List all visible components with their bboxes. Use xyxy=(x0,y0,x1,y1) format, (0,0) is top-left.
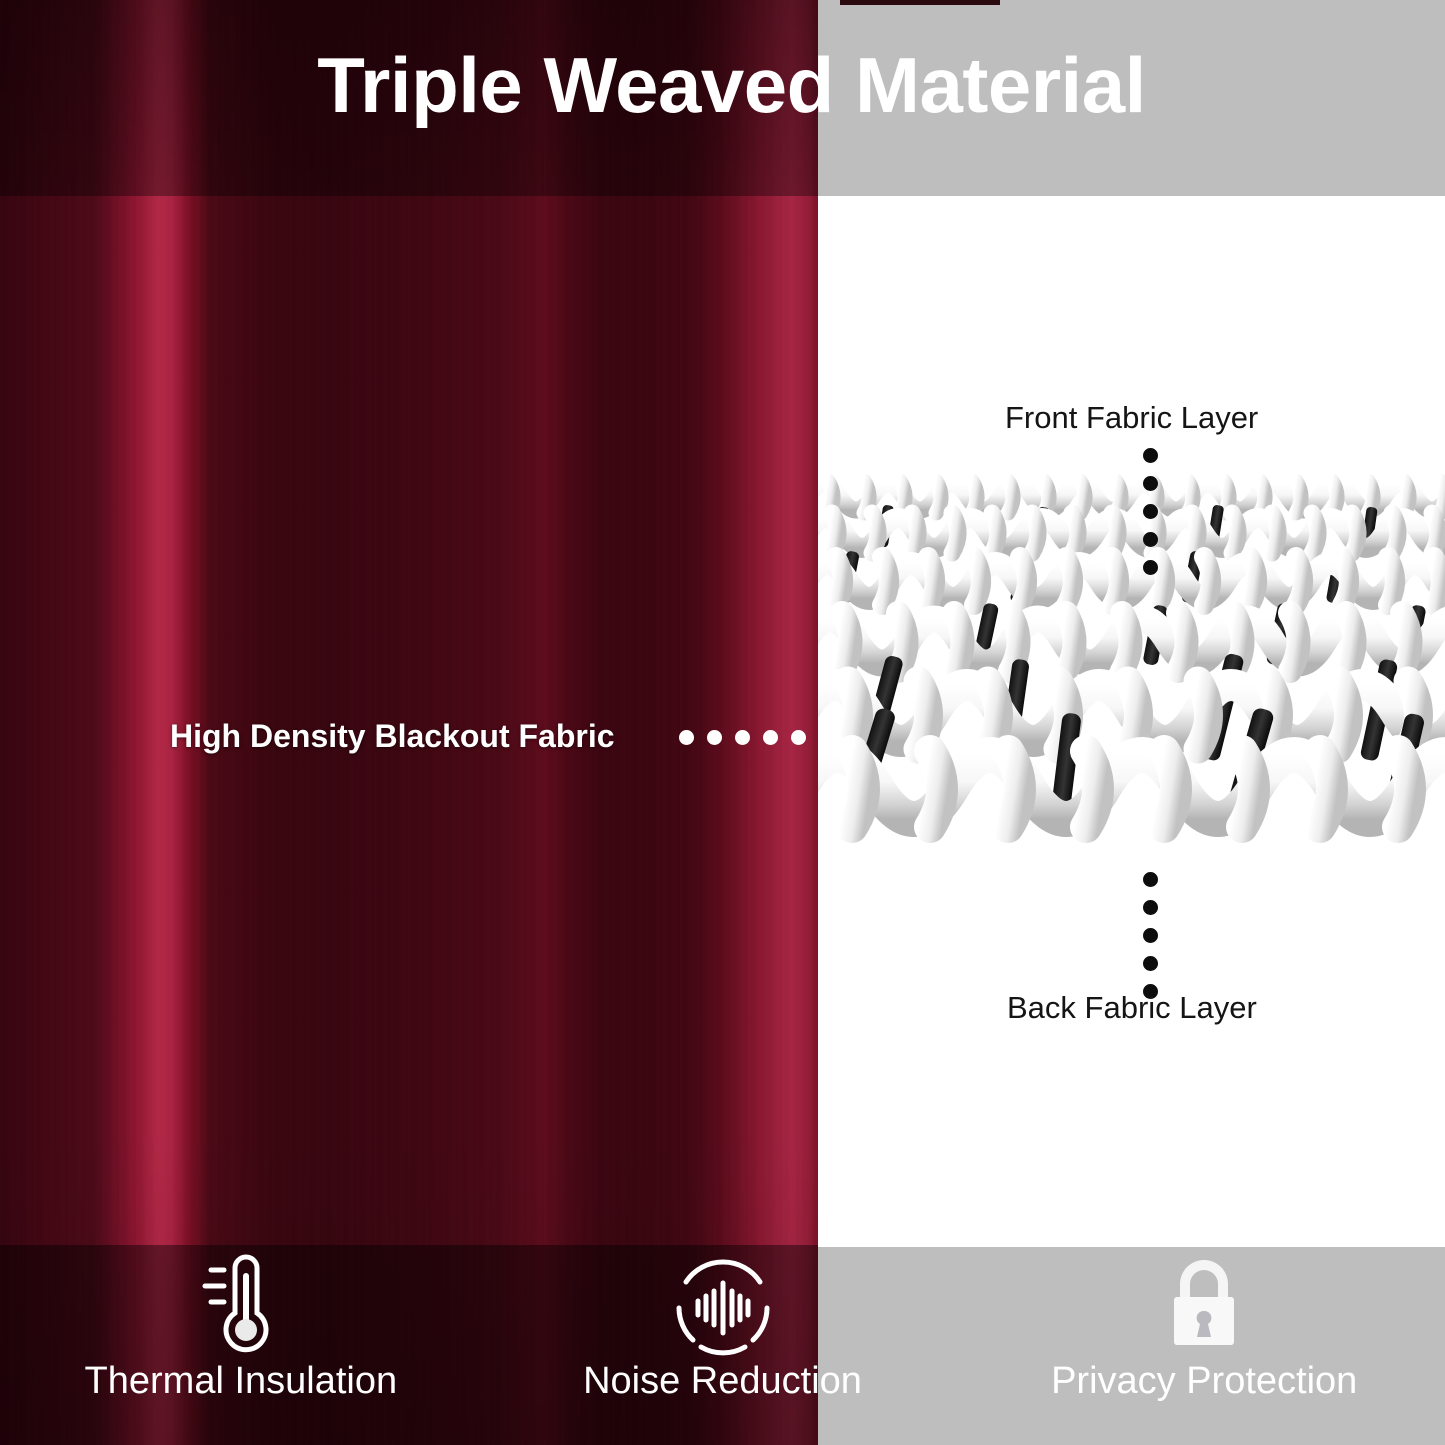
sound-wave-icon xyxy=(668,1252,778,1360)
feature-thermal-insulation: Thermal Insulation xyxy=(0,1238,482,1445)
weave-row-mid-1 xyxy=(818,550,1445,605)
padlock-icon xyxy=(1152,1252,1256,1360)
weave-svg xyxy=(818,455,1445,875)
feature-list: Thermal Insulation xyxy=(0,1238,1445,1445)
leader-dot xyxy=(791,730,806,745)
leader-dot xyxy=(1143,504,1158,519)
page-title: Triple Weaved Material xyxy=(0,46,1445,124)
feature-label: Thermal Insulation xyxy=(85,1362,398,1400)
leader-dot xyxy=(1143,872,1158,887)
woven-fabric-illustration xyxy=(818,455,1445,875)
infographic-canvas: Triple Weaved Material xyxy=(0,0,1445,1445)
feature-privacy-protection: Privacy Protection xyxy=(963,1238,1445,1445)
leader-dot xyxy=(763,730,778,745)
leader-dot xyxy=(1143,956,1158,971)
callout-back-fabric-layer: Back Fabric Layer xyxy=(1007,990,1257,1026)
weave-row-mid-2 xyxy=(818,602,1445,671)
feature-label: Privacy Protection xyxy=(1051,1362,1357,1400)
leader-dot xyxy=(707,730,722,745)
callout-blackout-fabric: High Density Blackout Fabric xyxy=(170,718,615,755)
feature-noise-reduction: Noise Reduction xyxy=(482,1238,964,1445)
leader-dot xyxy=(1143,532,1158,547)
leader-dot xyxy=(1143,476,1158,491)
leader-dot xyxy=(735,730,750,745)
weave-rows xyxy=(818,481,1445,829)
leader-dot xyxy=(1143,448,1158,463)
leader-dot xyxy=(819,730,834,745)
header-top-dark-strip xyxy=(840,0,1000,5)
thermometer-icon xyxy=(191,1252,291,1360)
leader-dot xyxy=(1143,900,1158,915)
callout-front-fabric-layer: Front Fabric Layer xyxy=(1005,400,1258,436)
feature-label: Noise Reduction xyxy=(583,1362,862,1400)
leader-dots-vertical-top xyxy=(1143,448,1158,588)
leader-dot xyxy=(1143,560,1158,575)
leader-dots-horizontal xyxy=(679,730,834,745)
leader-dot xyxy=(679,730,694,745)
leader-dot xyxy=(1143,928,1158,943)
weave-row-back-2 xyxy=(818,504,1445,553)
